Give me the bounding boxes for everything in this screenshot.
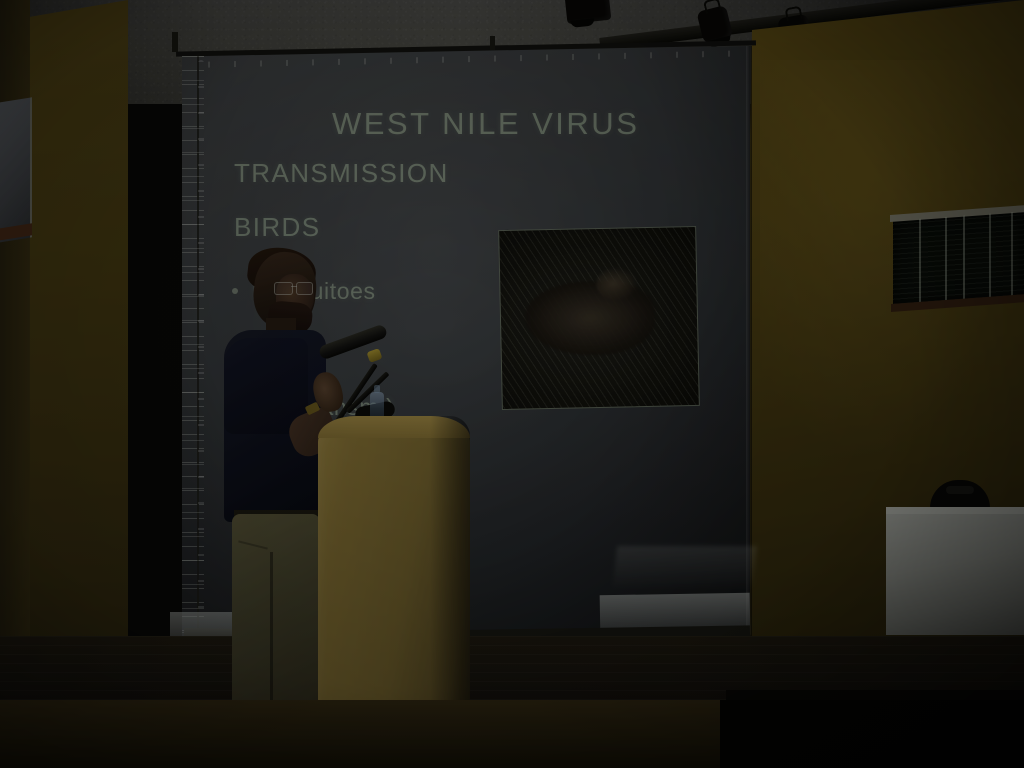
- louvered-window: [893, 211, 1024, 305]
- lecture-hall-photo: WEST NILE VIRUS TRANSMISSION BIRDS Mosqu…: [0, 0, 1024, 768]
- screen-hanger: [172, 32, 178, 52]
- draped-table: [886, 507, 1024, 635]
- window-mullion: [945, 217, 947, 301]
- speaker-trousers: [232, 514, 320, 724]
- left-high-window: [0, 97, 32, 242]
- screen-hanger: [490, 36, 495, 50]
- glasses-lens-left: [274, 282, 293, 295]
- window-mullion: [1011, 212, 1013, 296]
- glasses-lens-right: [296, 282, 313, 295]
- screen-light-sheen: [613, 546, 757, 586]
- window-mullion: [963, 216, 965, 300]
- stage-step-lower: [720, 700, 1024, 768]
- eyeglasses-icon: [274, 282, 318, 293]
- screen-grommet-strip: [198, 60, 204, 645]
- window-mullion: [989, 214, 991, 298]
- table-cloth-edge: [886, 507, 1024, 514]
- window-mullion: [919, 219, 921, 303]
- trouser-leg-seam: [270, 552, 273, 712]
- window-louvers: [893, 211, 1024, 305]
